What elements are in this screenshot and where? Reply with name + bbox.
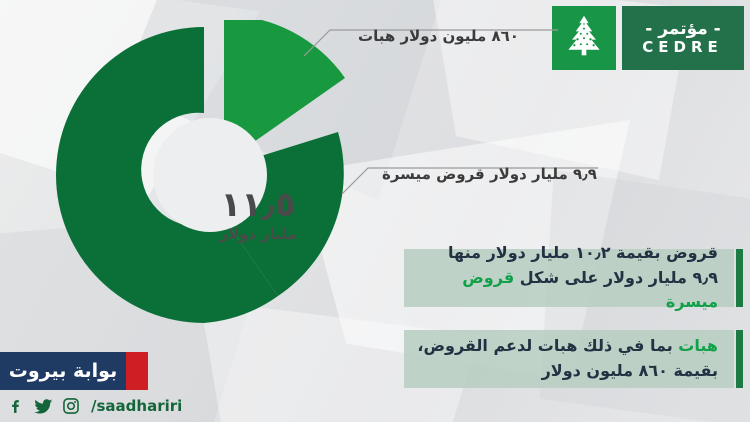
cedre-title-box: - مؤتمر - CEDRE xyxy=(622,6,744,70)
cedar-flag-box xyxy=(552,6,616,70)
grants-info-text: هبات بما في ذلك هبات لدعم القروض، بقيمة … xyxy=(416,334,718,384)
brand-name-box: بوابة بيروت xyxy=(0,352,126,390)
infographic-canvas: - مؤتمر - CEDRE xyxy=(0,0,750,422)
cedre-latin-label: CEDRE xyxy=(642,40,724,55)
cedar-tree-icon xyxy=(561,13,607,63)
twitter-icon[interactable] xyxy=(34,397,53,416)
grants-line2: بقيمة ٨٦٠ مليون دولار xyxy=(542,361,718,380)
callout-label-grants: ٨٦٠ مليون دولار هبات xyxy=(358,27,519,45)
callout-label-loans: ٩٫٩ مليار دولار قروض ميسرة xyxy=(382,165,597,183)
loans-info-box: قروض بقيمة ١٠٫٢ مليار دولار منها ٩٫٩ ملي… xyxy=(404,249,734,307)
grants-line1-post: بما في ذلك هبات لدعم القروض، xyxy=(417,336,678,355)
facebook-icon[interactable] xyxy=(8,397,25,416)
cedre-arabic-label: - مؤتمر - xyxy=(645,21,721,38)
donut-hole xyxy=(153,118,267,232)
grants-info-box: هبات بما في ذلك هبات لدعم القروض، بقيمة … xyxy=(404,330,734,388)
social-links: /saadhariri xyxy=(8,394,182,418)
loans-line1: قروض بقيمة ١٠٫٢ مليار دولار منها xyxy=(448,243,718,262)
brand-accent-bar xyxy=(126,352,148,390)
brand-name: بوابة بيروت xyxy=(9,360,117,382)
social-handle[interactable]: /saadhariri xyxy=(91,397,182,415)
cedre-logo: - مؤتمر - CEDRE xyxy=(552,6,744,70)
publisher-logo: بوابة بيروت xyxy=(0,352,148,390)
grants-line1-highlight: هبات xyxy=(678,336,718,355)
loans-info-text: قروض بقيمة ١٠٫٢ مليار دولار منها ٩٫٩ ملي… xyxy=(416,241,718,315)
donut-chart: ١١٫٥ مليار دولار xyxy=(55,20,365,330)
instagram-icon[interactable] xyxy=(62,397,80,415)
loans-line2-pre: ٩٫٩ مليار دولار على شكل xyxy=(514,268,718,287)
